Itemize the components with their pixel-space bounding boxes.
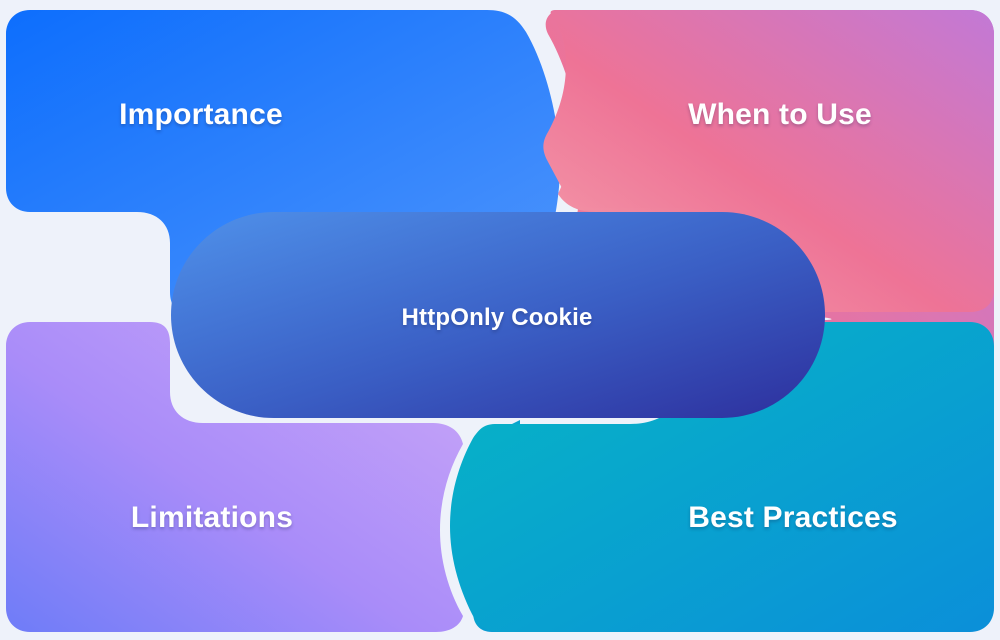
mind-map-svg bbox=[0, 0, 1000, 640]
diagram-canvas: Importance When to Use Limitations Best … bbox=[0, 0, 1000, 640]
center-node-shape[interactable] bbox=[171, 212, 825, 418]
